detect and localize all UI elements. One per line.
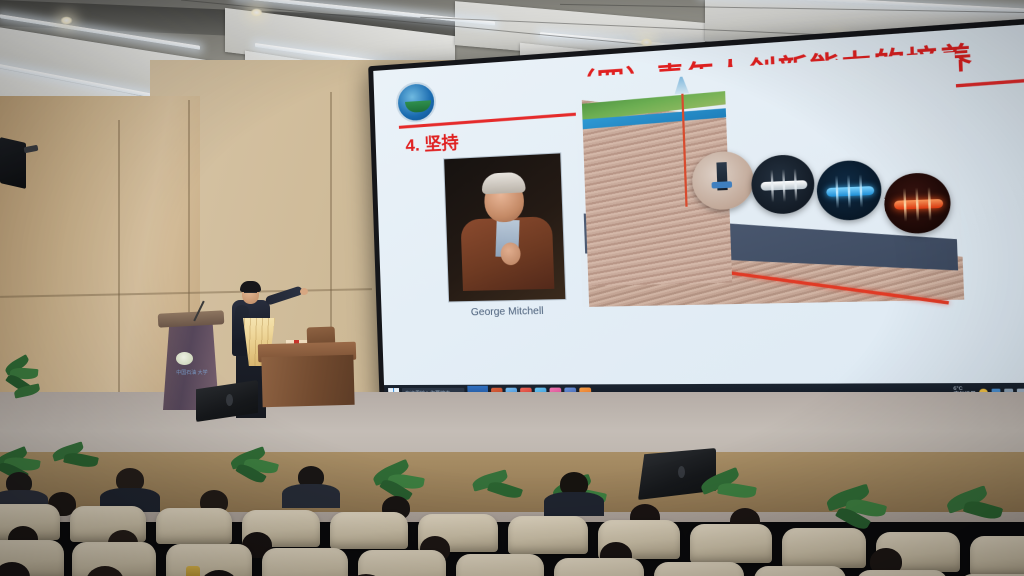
portrait-photo bbox=[444, 153, 565, 301]
audience-seat bbox=[358, 550, 446, 576]
audience-seat bbox=[554, 558, 644, 576]
university-emblem-icon bbox=[395, 81, 436, 124]
presenter-hair bbox=[240, 281, 261, 292]
audience-seat bbox=[690, 524, 772, 563]
audience-seat bbox=[456, 554, 544, 576]
audience-seat bbox=[856, 570, 948, 576]
photo-caption: George Mitchell bbox=[435, 305, 581, 319]
audience-seat bbox=[508, 516, 588, 554]
hair-clip bbox=[186, 566, 200, 576]
audience-seat bbox=[330, 512, 408, 549]
projection-screen[interactable]: （四）青年人创新能力的培养 4. 坚持 George Mitchell bbox=[368, 15, 1024, 406]
wall-seam bbox=[118, 120, 120, 420]
audience-seat bbox=[782, 528, 866, 568]
lectern-emblem-icon bbox=[176, 352, 193, 365]
auditorium-scene: （四）青年人创新能力的培养 4. 坚持 George Mitchell bbox=[0, 0, 1024, 576]
portrait-hair bbox=[481, 172, 525, 195]
presenter-right-hand bbox=[300, 288, 308, 295]
shale-gas-diagram bbox=[575, 52, 965, 307]
side-table-body bbox=[261, 355, 354, 407]
audience-seat bbox=[654, 562, 744, 576]
slide-subtitle: 4. 坚持 bbox=[405, 128, 459, 156]
audience-seat bbox=[754, 566, 846, 576]
presentation-slide: （四）青年人创新能力的培养 4. 坚持 George Mitchell bbox=[373, 22, 1024, 402]
audience-shoulders bbox=[544, 492, 604, 516]
screen-bezel: （四）青年人创新能力的培养 4. 坚持 George Mitchell bbox=[368, 15, 1024, 406]
wall-mounted-display bbox=[0, 137, 26, 189]
audience-seat bbox=[262, 548, 348, 576]
audience-seat bbox=[156, 508, 232, 544]
downlight bbox=[60, 16, 73, 25]
audience-seat bbox=[970, 536, 1024, 576]
audience-seating bbox=[0, 418, 1024, 576]
lectern-label: 中国石油 大学 bbox=[170, 370, 214, 376]
downlight bbox=[250, 8, 263, 17]
presenter-glasses-icon bbox=[244, 292, 257, 295]
speaker-handle-icon bbox=[226, 394, 233, 406]
audience-shoulders bbox=[282, 484, 340, 508]
